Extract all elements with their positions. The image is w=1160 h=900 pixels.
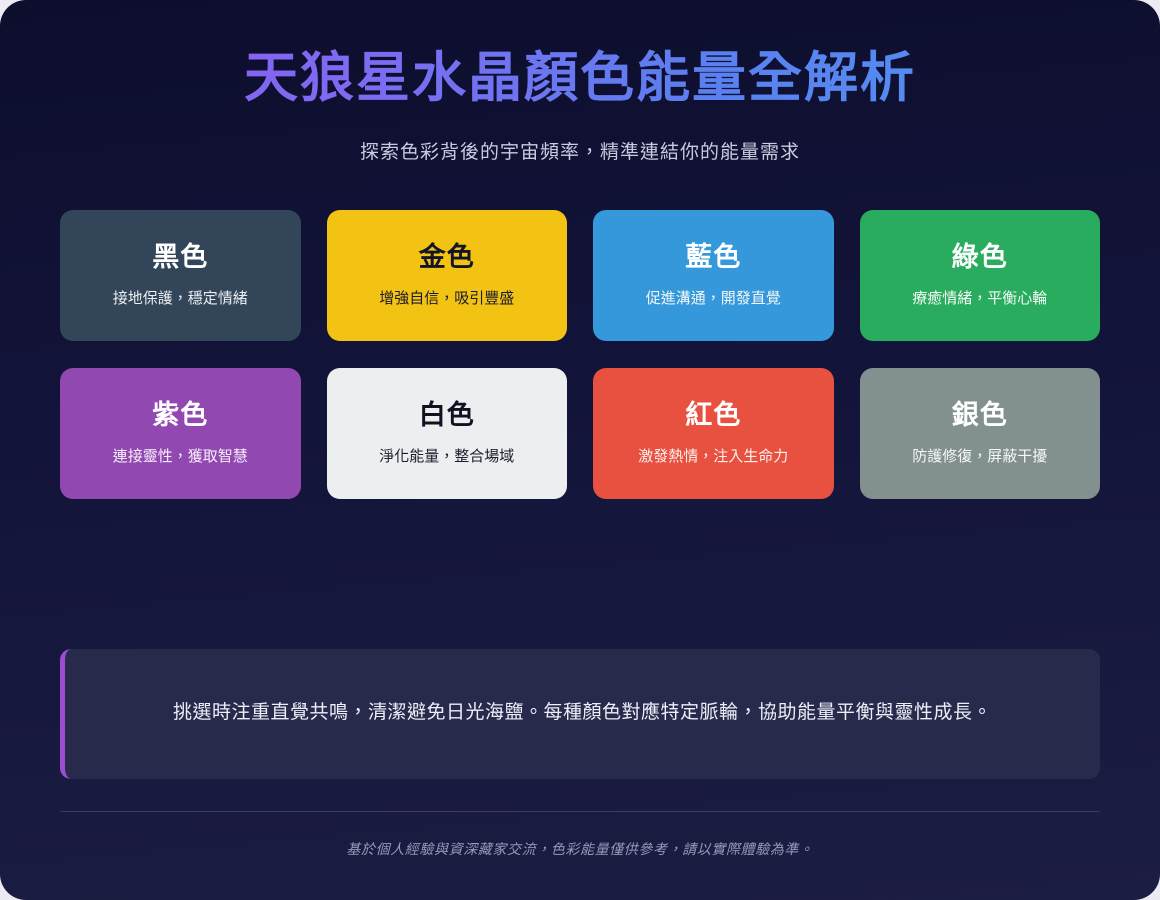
- color-card-purple[interactable]: 紫色 連接靈性，獲取智慧: [60, 368, 301, 499]
- color-card-title: 綠色: [952, 243, 1008, 273]
- color-card-silver[interactable]: 銀色 防護修復，屏蔽干擾: [860, 368, 1101, 499]
- color-card-red[interactable]: 紅色 激發熱情，注入生命力: [593, 368, 834, 499]
- color-card-gold[interactable]: 金色 增強自信，吸引豐盛: [327, 210, 568, 341]
- color-card-title: 黑色: [152, 243, 208, 273]
- color-card-green[interactable]: 綠色 療癒情緒，平衡心輪: [860, 210, 1101, 341]
- color-card-title: 藍色: [685, 243, 741, 273]
- color-card-black[interactable]: 黑色 接地保護，穩定情緒: [60, 210, 301, 341]
- page-root: 天狼星水晶顏色能量全解析 探索色彩背後的宇宙頻率，精準連結你的能量需求 黑色 接…: [0, 0, 1160, 900]
- footer-divider: [60, 811, 1100, 812]
- color-card-desc: 接地保護，穩定情緒: [113, 290, 248, 308]
- color-card-title: 紫色: [152, 401, 208, 431]
- color-card-title: 白色: [419, 401, 475, 431]
- page-title: 天狼星水晶顏色能量全解析: [60, 46, 1100, 111]
- color-card-desc: 防護修復，屏蔽干擾: [912, 448, 1047, 466]
- color-card-desc: 連接靈性，獲取智慧: [113, 448, 248, 466]
- color-card-blue[interactable]: 藍色 促進溝通，開發直覺: [593, 210, 834, 341]
- color-card-desc: 促進溝通，開發直覺: [646, 290, 781, 308]
- color-card-desc: 淨化能量，整合場域: [379, 448, 514, 466]
- footer-disclaimer: 基於個人經驗與資深藏家交流，色彩能量僅供參考，請以實際體驗為準。: [60, 839, 1100, 859]
- note-text: 挑選時注重直覺共鳴，清潔避免日光海鹽。每種顏色對應特定脈輪，協助能量平衡與靈性成…: [173, 696, 992, 729]
- color-card-desc: 激發熱情，注入生命力: [638, 448, 788, 466]
- color-card-white[interactable]: 白色 淨化能量，整合場域: [327, 368, 568, 499]
- color-card-desc: 增強自信，吸引豐盛: [379, 290, 514, 308]
- note-callout: 挑選時注重直覺共鳴，清潔避免日光海鹽。每種顏色對應特定脈輪，協助能量平衡與靈性成…: [60, 649, 1100, 779]
- page-inner: 天狼星水晶顏色能量全解析 探索色彩背後的宇宙頻率，精準連結你的能量需求 黑色 接…: [0, 0, 1160, 900]
- color-card-title: 銀色: [952, 401, 1008, 431]
- color-card-grid: 黑色 接地保護，穩定情緒 金色 增強自信，吸引豐盛 藍色 促進溝通，開發直覺 綠…: [60, 210, 1100, 499]
- page-header: 天狼星水晶顏色能量全解析 探索色彩背後的宇宙頻率，精準連結你的能量需求: [60, 46, 1100, 164]
- page-subtitle: 探索色彩背後的宇宙頻率，精準連結你的能量需求: [60, 137, 1100, 164]
- color-card-title: 紅色: [685, 401, 741, 431]
- note-section: 挑選時注重直覺共鳴，清潔避免日光海鹽。每種顏色對應特定脈輪，協助能量平衡與靈性成…: [60, 649, 1100, 779]
- color-card-title: 金色: [419, 243, 475, 273]
- color-card-desc: 療癒情緒，平衡心輪: [912, 290, 1047, 308]
